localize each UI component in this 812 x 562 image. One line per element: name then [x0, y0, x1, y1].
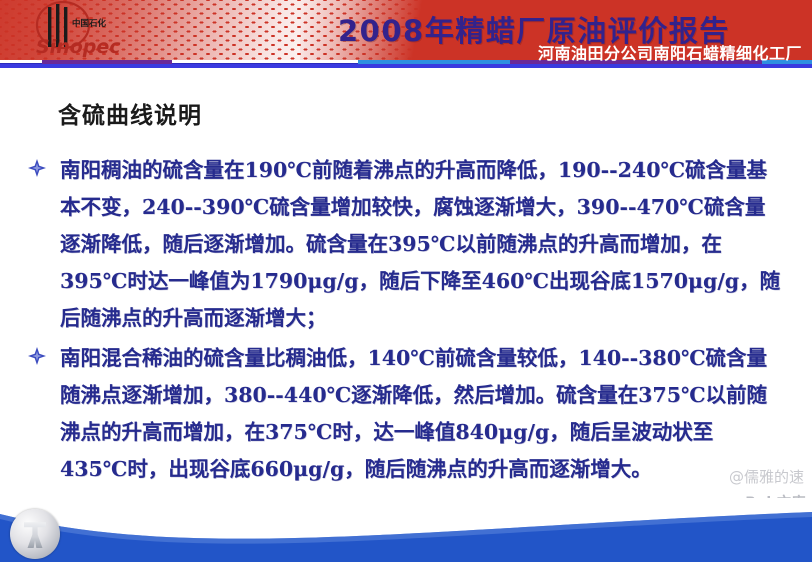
slide-footer: [0, 498, 812, 562]
slide-canvas: 中国石化 Sinopec 2008年精蜡厂原油评价报告 含硫曲线说明 南阳稠油的…: [0, 0, 812, 562]
divider-seg-cyan-1: [358, 60, 510, 64]
paragraph-text: 南阳稠油的硫含量在190℃前随着沸点的升高而降低，190--240℃硫含量基: [26, 152, 796, 189]
divider-base: [0, 64, 812, 68]
bullet-line: 沸点的升高而增加，在375℃时，达一峰值840μg/g，随后呈波动状至: [26, 414, 796, 451]
diamond-bullet-icon: [26, 345, 48, 367]
bullet-line: 逐渐降低，随后逐渐增加。硫含量在395℃以前随沸点的升高而增加，在: [26, 226, 796, 263]
bullet-line: 南阳混合稀油的硫含量比稠油低，140℃前硫含量较低，140--380℃硫含量: [26, 340, 796, 377]
bullet-line: 本不变，240--390℃硫含量增加较快，腐蚀逐渐增大，390--470℃硫含量: [26, 189, 796, 226]
sinopec-logo: 中国石化 Sinopec: [8, 1, 124, 59]
paragraph-text: 随沸点逐渐增加，380--440℃逐渐降低，然后增加。硫含量在375℃以前随: [26, 377, 796, 414]
bullet-paragraph-2: 南阳混合稀油的硫含量比稠油低，140℃前硫含量较低，140--380℃硫含量 随…: [26, 340, 796, 488]
paragraph-text: 南阳混合稀油的硫含量比稠油低，140℃前硫含量较低，140--380℃硫含量: [26, 340, 796, 377]
bullet-line: 后随沸点的升高而逐渐增大；: [26, 300, 796, 337]
divider-seg-purple-1: [42, 60, 172, 64]
bullet-line: 435℃时，出现谷底660μg/g，随后随沸点的升高而逐渐增大。: [26, 451, 796, 488]
sinopec-logo-en-text: Sinopec: [36, 36, 121, 58]
plant-emblem-glyph: [24, 520, 46, 548]
paragraph-text: 435℃时，出现谷底660μg/g，随后随沸点的升高而逐渐增大。: [26, 451, 796, 488]
divider-seg-white-1: [0, 60, 42, 63]
paragraph-text: 395℃时达一峰值为1790μg/g，随后下降至460℃出现谷底1570μg/g…: [26, 263, 796, 300]
bullet-line: 南阳稠油的硫含量在190℃前随着沸点的升高而降低，190--240℃硫含量基: [26, 152, 796, 189]
paragraph-text: 本不变，240--390℃硫含量增加较快，腐蚀逐渐增大，390--470℃硫含量: [26, 189, 796, 226]
bullet-line: 395℃时达一峰值为1790μg/g，随后下降至460℃出现谷底1570μg/g…: [26, 263, 796, 300]
section-heading: 含硫曲线说明: [58, 96, 202, 130]
paragraph-text: 后随沸点的升高而逐渐增大；: [26, 300, 796, 337]
plant-emblem-logo: [10, 509, 60, 559]
sinopec-logo-cn-text: 中国石化: [72, 18, 107, 29]
bullet-line: 随沸点逐渐增加，380--440℃逐渐降低，然后增加。硫含量在375℃以前随: [26, 377, 796, 414]
paragraph-text: 沸点的升高而增加，在375℃时，达一峰值840μg/g，随后呈波动状至: [26, 414, 796, 451]
divider-seg-white-2: [172, 60, 358, 63]
diamond-bullet-icon: [26, 157, 48, 179]
footer-curve-decoration: [0, 498, 812, 562]
paragraph-text: 逐渐降低，随后逐渐增加。硫含量在395℃以前随沸点的升高而增加，在: [26, 226, 796, 263]
bullet-paragraph-1: 南阳稠油的硫含量在190℃前随着沸点的升高而降低，190--240℃硫含量基 本…: [26, 152, 796, 337]
footer-company-name: 河南油田分公司南阳石蜡精细化工厂: [538, 40, 802, 64]
